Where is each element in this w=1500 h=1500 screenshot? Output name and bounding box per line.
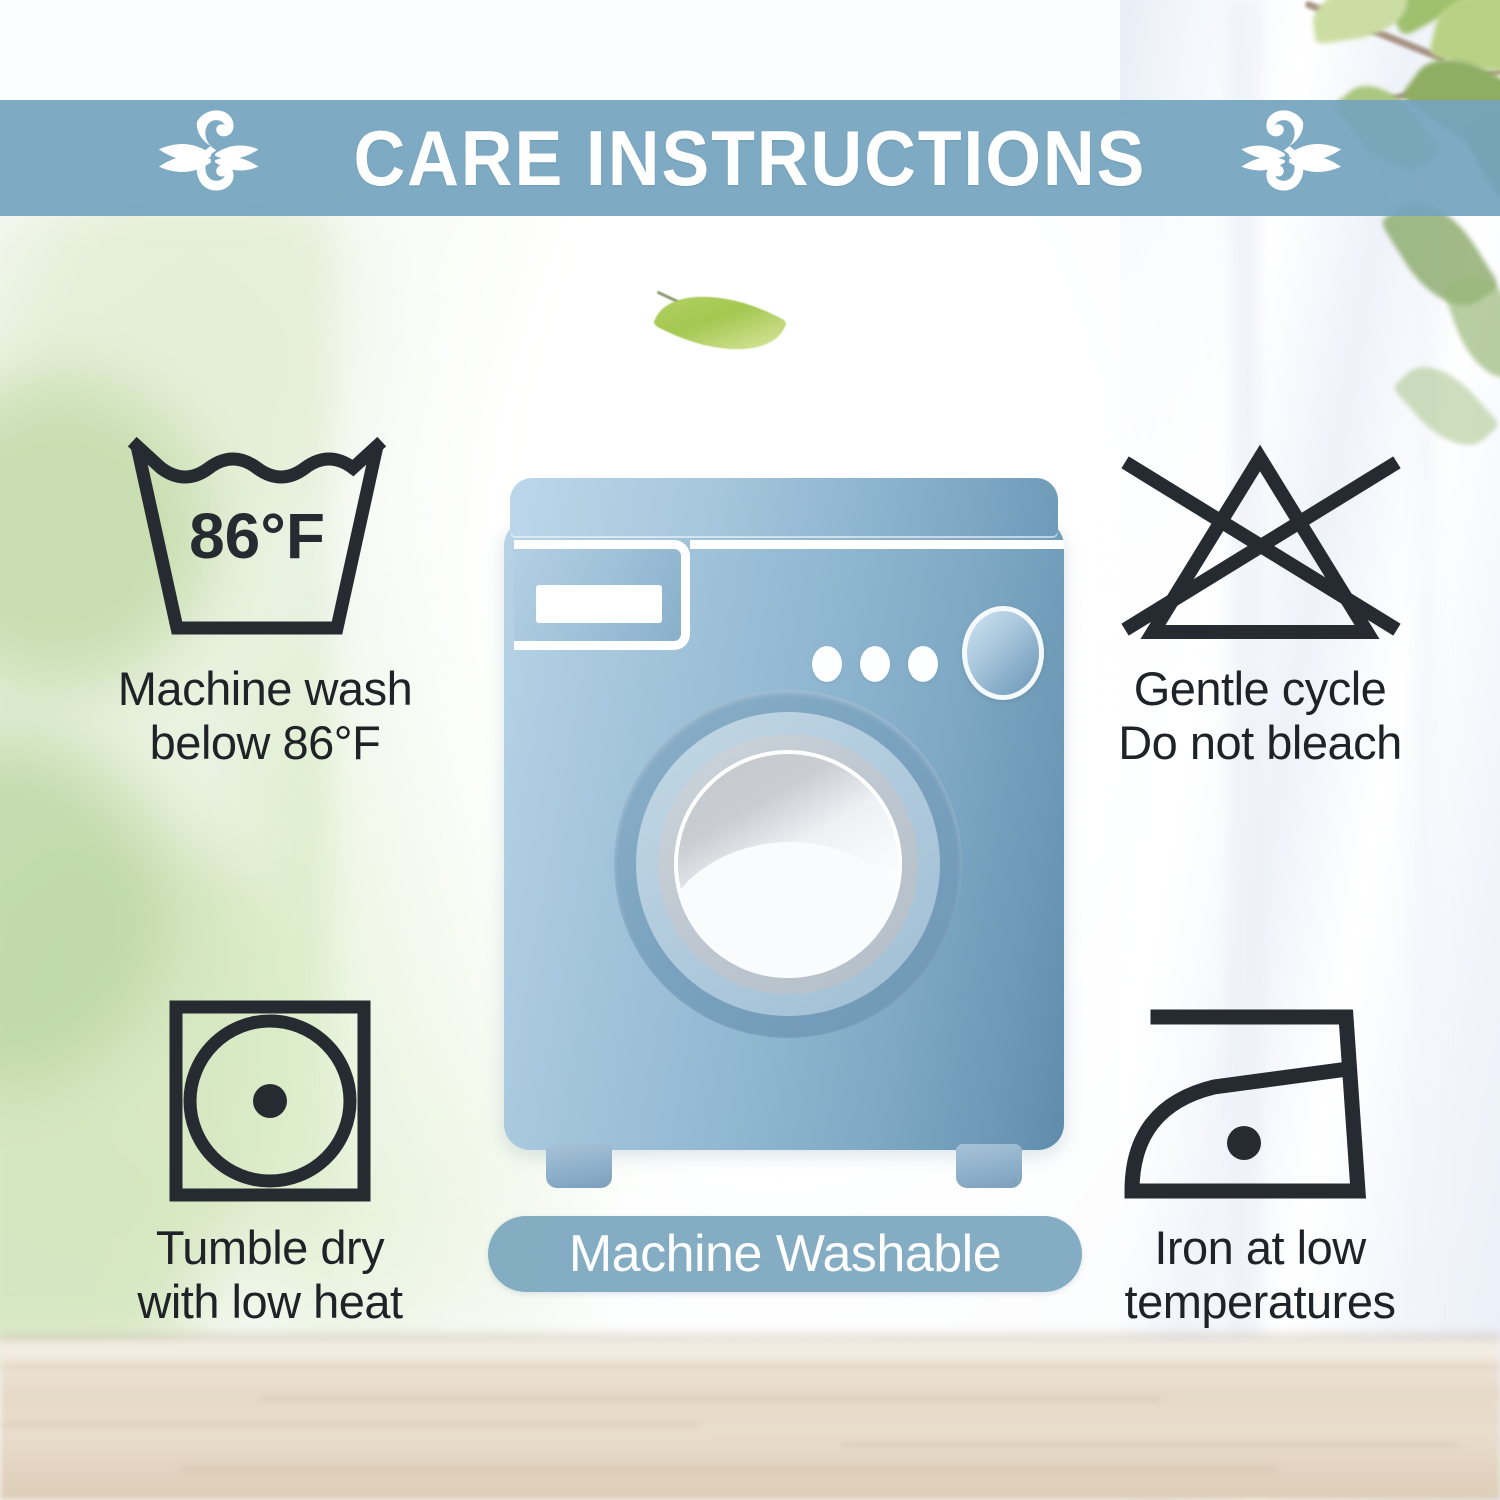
- wash-tub-icon: 86°F: [115, 436, 415, 648]
- washer-door-glass: [674, 750, 902, 978]
- washer-indicator-light-3: [908, 646, 938, 682]
- fleur-de-lis-right-icon: [1221, 106, 1353, 210]
- washer-foot-left: [546, 1144, 612, 1188]
- washer-door-mid-ring: [636, 712, 940, 1016]
- washer-indicator-light-2: [860, 646, 890, 682]
- care-symbol-tumble-dry: Tumble dry with low heat: [20, 995, 520, 1328]
- wash-tub-icon-wrapper: 86°F: [30, 436, 500, 648]
- tumble-dry-caption: Tumble dry with low heat: [20, 1221, 520, 1328]
- tumble-dry-icon-wrapper: [20, 995, 520, 1207]
- do-not-bleach-triangle-icon: [1095, 436, 1425, 648]
- iron-caption: Iron at low temperatures: [1020, 1221, 1500, 1328]
- washer-foot-right: [956, 1144, 1022, 1188]
- wood-table-edge: [0, 1328, 1500, 1348]
- washer-door-outer-ring: [614, 690, 962, 1038]
- washer-top-lid: [510, 478, 1058, 536]
- washer-drawer-slot: [536, 585, 662, 623]
- banner-title: CARE INSTRUCTIONS: [354, 119, 1147, 197]
- washer-program-knob: [962, 606, 1044, 700]
- washer-door-inner-ring: [658, 734, 918, 994]
- machine-wash-caption: Machine wash below 86°F: [30, 662, 500, 769]
- do-not-bleach-icon-wrapper: [1025, 436, 1495, 648]
- washer-detergent-drawer: [514, 540, 690, 650]
- machine-washable-badge: Machine Washable: [488, 1216, 1082, 1292]
- tumble-dry-low-icon: [164, 995, 376, 1207]
- washer-door-glass-reflection: [674, 842, 902, 978]
- washer-indicator-light-1: [812, 646, 842, 682]
- fleur-de-lis-left-icon: [147, 106, 279, 210]
- washer-control-panel-divider: [690, 540, 1064, 549]
- care-symbol-iron: Iron at low temperatures: [1020, 995, 1500, 1328]
- do-not-bleach-caption: Gentle cycle Do not bleach: [1025, 662, 1495, 769]
- wash-temperature-label: 86°F: [189, 500, 325, 572]
- care-symbol-do-not-bleach: Gentle cycle Do not bleach: [1025, 436, 1495, 769]
- iron-low-temp-icon: [1110, 995, 1410, 1207]
- iron-icon-wrapper: [1020, 995, 1500, 1207]
- washing-machine-illustration: [504, 478, 1064, 1178]
- care-symbol-machine-wash: 86°F Machine wash below 86°F: [30, 436, 500, 769]
- machine-washable-label: Machine Washable: [569, 1228, 1001, 1280]
- wood-table-surface: [0, 1340, 1500, 1500]
- care-instructions-banner: CARE INSTRUCTIONS: [0, 100, 1500, 216]
